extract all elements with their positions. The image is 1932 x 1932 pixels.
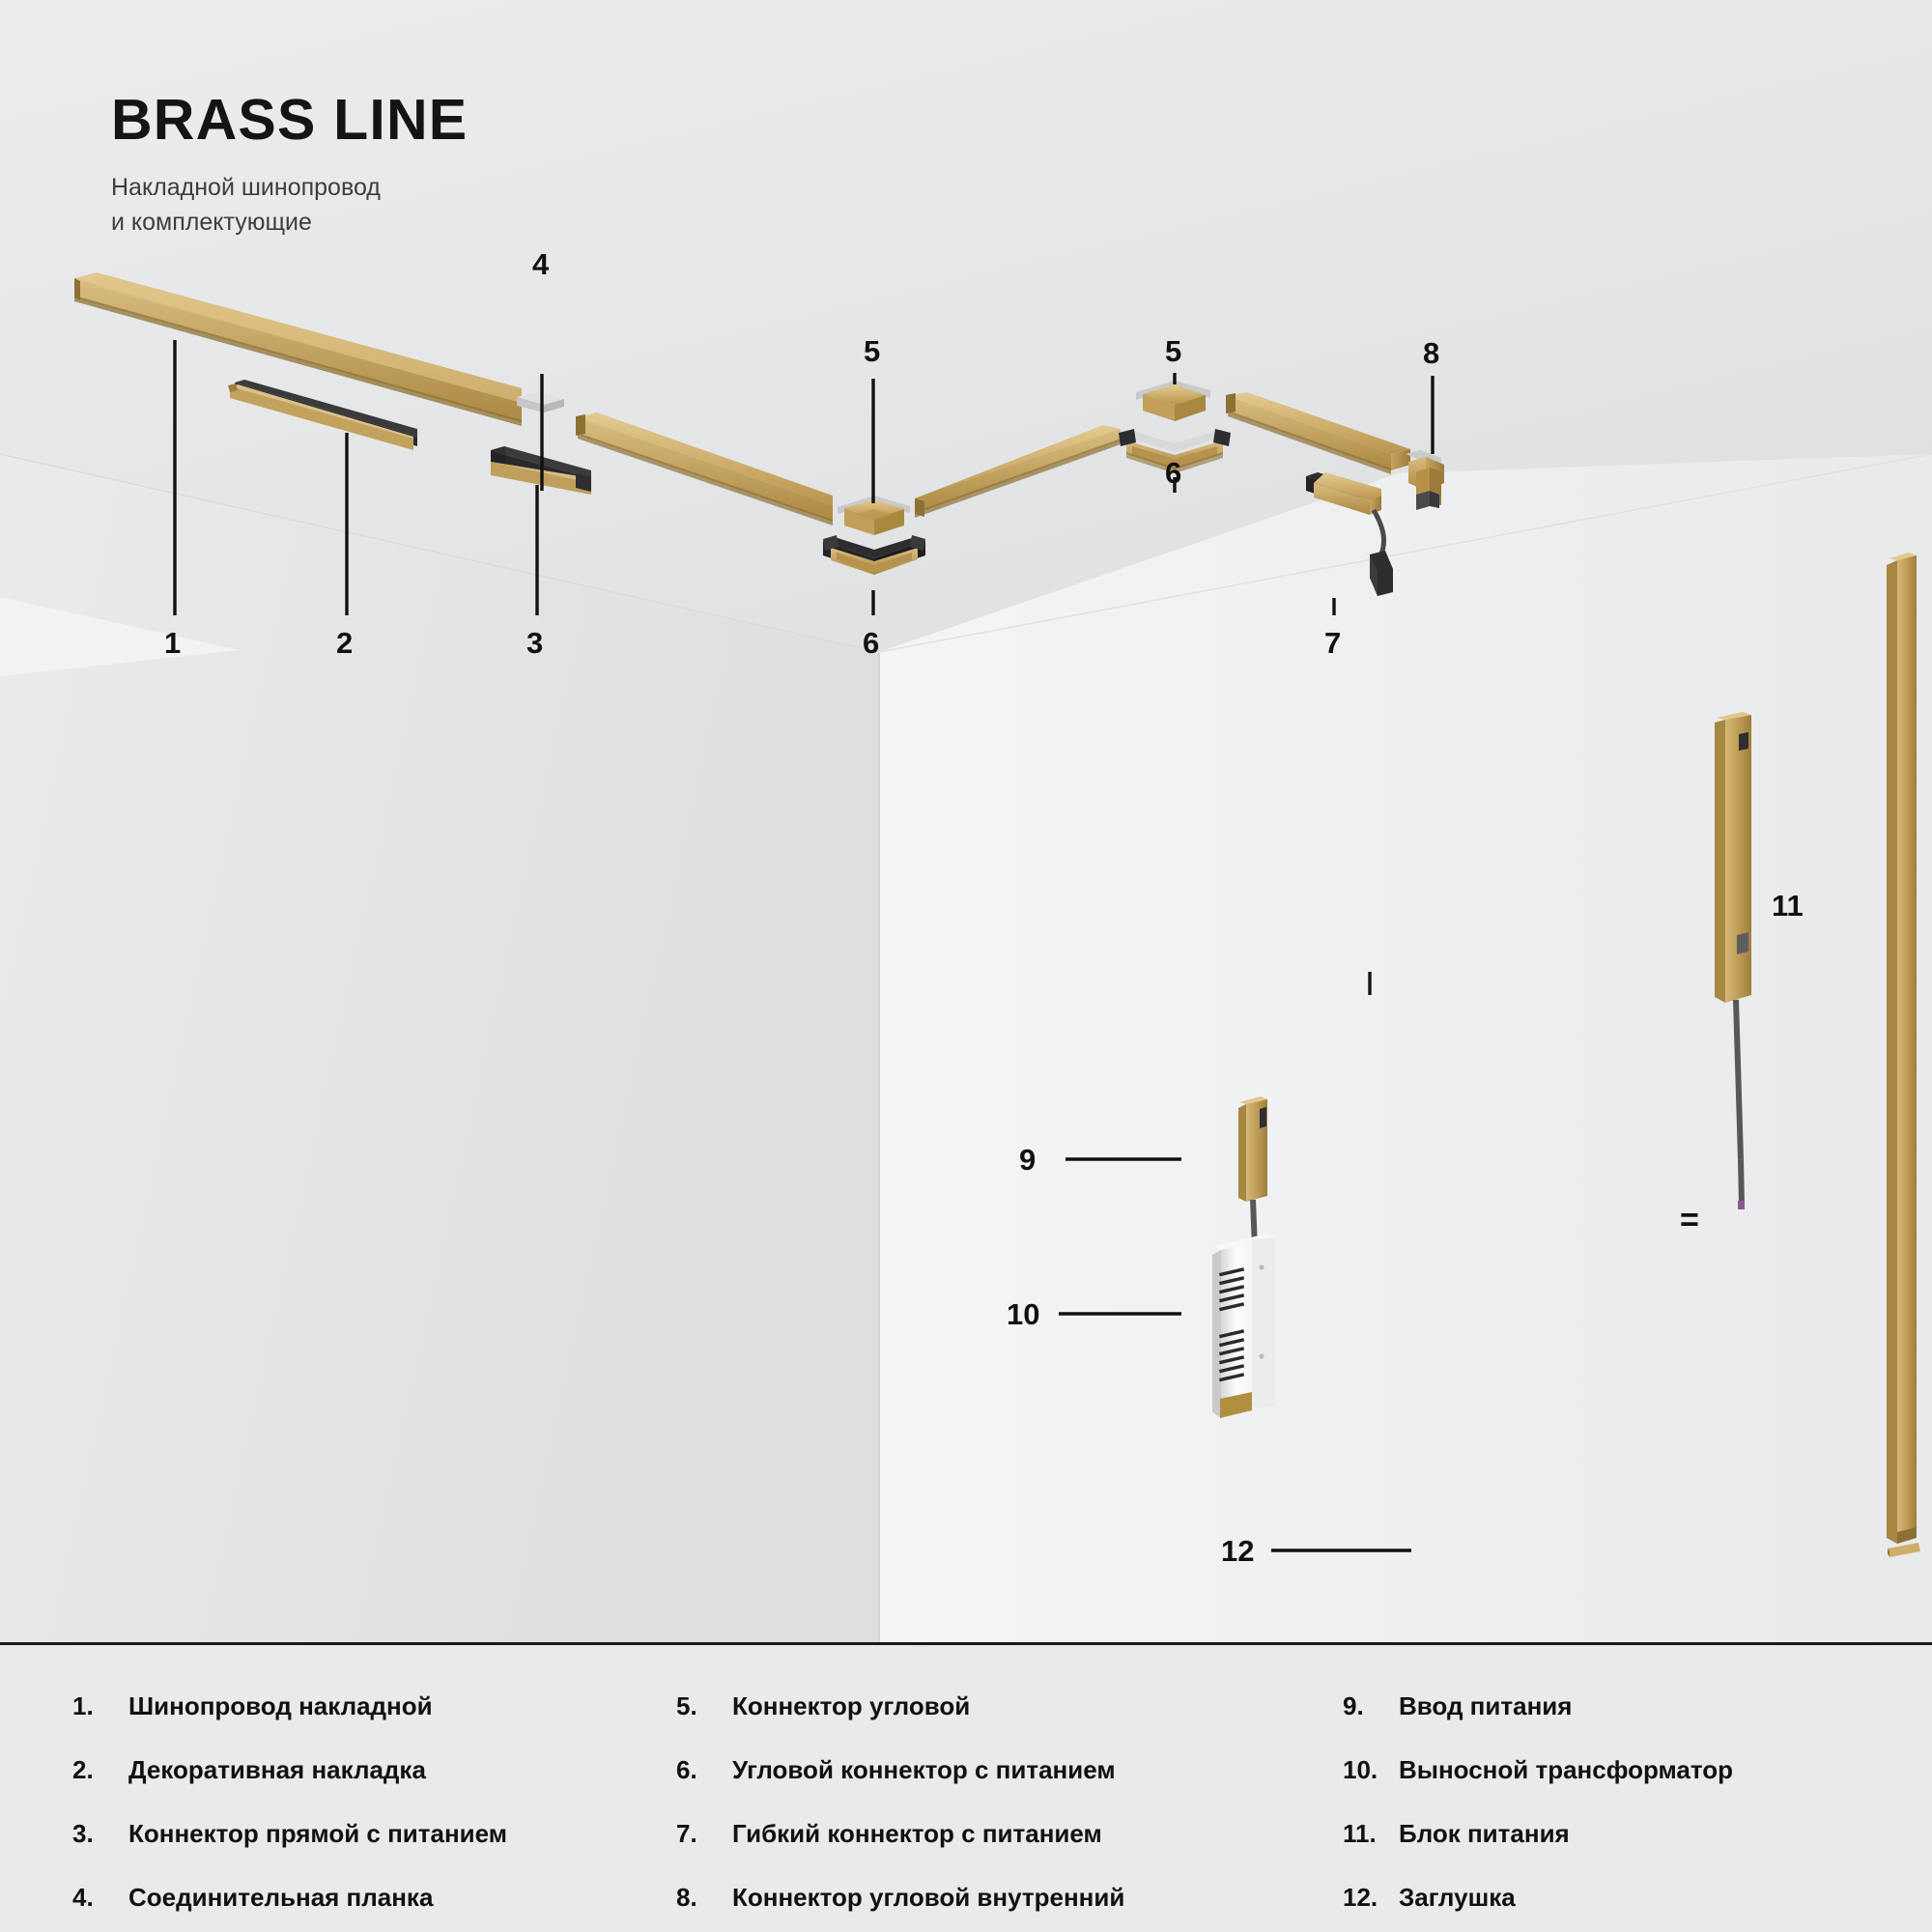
- legend-item-number: 10.: [1343, 1755, 1399, 1785]
- legend-item-label: Блок питания: [1399, 1819, 1570, 1849]
- legend-item-label: Гибкий коннектор с питанием: [732, 1819, 1102, 1849]
- page-subtitle: Накладной шинопровод и комплектующие: [111, 171, 468, 240]
- legend-item-7: 7. Гибкий коннектор с питанием: [676, 1819, 1343, 1849]
- legend-item-number: 6.: [676, 1755, 732, 1785]
- legend-item-number: 9.: [1343, 1691, 1399, 1721]
- legend-item-2: 2. Декоративная накладка: [72, 1755, 676, 1785]
- callout-3: 3: [526, 628, 543, 658]
- legend-divider: [0, 1642, 1932, 1645]
- legend-panel: 1. Шинопровод накладной 2. Декоративная …: [0, 1645, 1932, 1932]
- product-scene: BRASS LINE Накладной шинопровод и компле…: [0, 0, 1932, 1642]
- legend-item-12: 12. Заглушка: [1343, 1883, 1932, 1913]
- legend-item-number: 7.: [676, 1819, 732, 1849]
- legend-item-1: 1. Шинопровод накладной: [72, 1691, 676, 1721]
- legend-item-label: Ввод питания: [1399, 1691, 1572, 1721]
- callout-5a: 5: [864, 336, 880, 366]
- legend-item-6: 6. Угловой коннектор с питанием: [676, 1755, 1343, 1785]
- legend-item-3: 3. Коннектор прямой с питанием: [72, 1819, 676, 1849]
- legend-item-label: Выносной трансформатор: [1399, 1755, 1733, 1785]
- legend-item-10: 10. Выносной трансформатор: [1343, 1755, 1932, 1785]
- legend-item-number: 3.: [72, 1819, 128, 1849]
- legend-item-number: 1.: [72, 1691, 128, 1721]
- right-wall-surface: [879, 454, 1932, 1642]
- legend-column-3: 9. Ввод питания 10. Выносной трансформат…: [1343, 1645, 1932, 1932]
- legend-item-number: 8.: [676, 1883, 732, 1913]
- legend-column-2: 5. Коннектор угловой 6. Угловой коннекто…: [676, 1645, 1343, 1932]
- legend-item-8: 8. Коннектор угловой внутренний: [676, 1883, 1343, 1913]
- scene-illustration: [0, 0, 1932, 1642]
- callout-4: 4: [532, 249, 549, 279]
- legend-item-number: 2.: [72, 1755, 128, 1785]
- callout-6b: 6: [1165, 458, 1181, 488]
- callout-6a: 6: [863, 628, 879, 658]
- legend-item-number: 11.: [1343, 1819, 1399, 1849]
- legend-item-label: Соединительная планка: [128, 1883, 433, 1913]
- legend-item-number: 12.: [1343, 1883, 1399, 1913]
- legend-item-label: Угловой коннектор с питанием: [732, 1755, 1116, 1785]
- callout-9: 9: [1019, 1145, 1036, 1175]
- callout-10: 10: [1007, 1299, 1039, 1329]
- legend-item-11: 11. Блок питания: [1343, 1819, 1932, 1849]
- legend-item-5: 5. Коннектор угловой: [676, 1691, 1343, 1721]
- callout-8: 8: [1423, 338, 1439, 368]
- legend-item-9: 9. Ввод питания: [1343, 1691, 1932, 1721]
- callout-5b: 5: [1165, 336, 1181, 366]
- callout-7: 7: [1324, 628, 1341, 658]
- legend-item-label: Шинопровод накладной: [128, 1691, 433, 1721]
- legend-item-4: 4. Соединительная планка: [72, 1883, 676, 1913]
- callout-12: 12: [1221, 1536, 1254, 1566]
- legend-item-label: Декоративная накладка: [128, 1755, 426, 1785]
- legend-item-number: 5.: [676, 1691, 732, 1721]
- legend-item-number: 4.: [72, 1883, 128, 1913]
- vertical-track-profile: [1887, 553, 1917, 1544]
- equals-sign: =: [1680, 1202, 1699, 1239]
- callout-11: 11: [1772, 891, 1804, 921]
- legend-item-label: Коннектор прямой с питанием: [128, 1819, 507, 1849]
- header-block: BRASS LINE Накладной шинопровод и компле…: [111, 92, 468, 240]
- legend-item-label: Коннектор угловой: [732, 1691, 970, 1721]
- legend-item-label: Коннектор угловой внутренний: [732, 1883, 1124, 1913]
- callout-1: 1: [164, 628, 181, 658]
- page-title: BRASS LINE: [111, 92, 468, 149]
- legend-item-label: Заглушка: [1399, 1883, 1516, 1913]
- legend-column-1: 1. Шинопровод накладной 2. Декоративная …: [0, 1645, 676, 1932]
- callout-2: 2: [336, 628, 353, 658]
- remote-transformer-10: [1212, 1234, 1275, 1418]
